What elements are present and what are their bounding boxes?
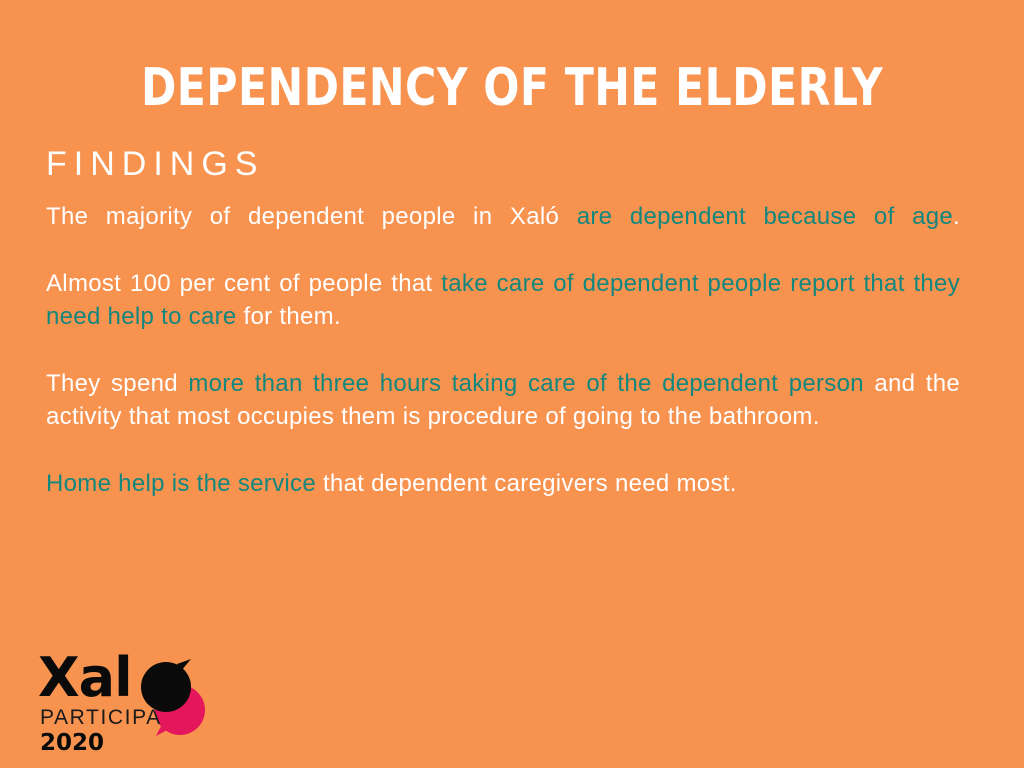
finding-2-text-tail: for them.	[237, 303, 341, 330]
slide-canvas: DEPENDENCY OF THE ELDERLY FINDINGS The m…	[0, 0, 1024, 768]
finding-3-text-lead: They spend	[46, 370, 188, 397]
finding-1-highlight: are dependent because of age	[577, 203, 953, 230]
finding-paragraph-3: They spend more than three hours taking …	[46, 367, 960, 434]
logo-wordmark-xal: Xal	[38, 650, 132, 706]
section-heading: FINDINGS	[46, 144, 264, 184]
finding-1-text-tail: .	[953, 203, 960, 230]
finding-paragraph-4: Home help is the service that dependent …	[46, 467, 960, 501]
finding-paragraph-2: Almost 100 per cent of people that take …	[46, 267, 960, 334]
findings-list: The majority of dependent people in Xaló…	[46, 200, 960, 500]
xalo-participa-logo: Xal PARTICIPA 2020	[38, 650, 198, 754]
logo-year: 2020	[40, 730, 104, 756]
finding-2-text-lead: Almost 100 per cent of people that	[46, 270, 441, 297]
finding-paragraph-1: The majority of dependent people in Xaló…	[46, 200, 960, 234]
finding-3-highlight: more than three hours taking care of the…	[188, 370, 864, 397]
finding-1-text-lead: The majority of dependent people in Xaló	[46, 203, 577, 230]
page-title: DEPENDENCY OF THE ELDERLY	[92, 57, 932, 119]
black-speech-bubble-icon	[141, 659, 191, 712]
logo-tagline-participa: PARTICIPA	[40, 706, 162, 730]
finding-4-text-tail: that dependent caregivers need most.	[316, 470, 737, 497]
finding-4-highlight: Home help is the service	[46, 470, 316, 497]
